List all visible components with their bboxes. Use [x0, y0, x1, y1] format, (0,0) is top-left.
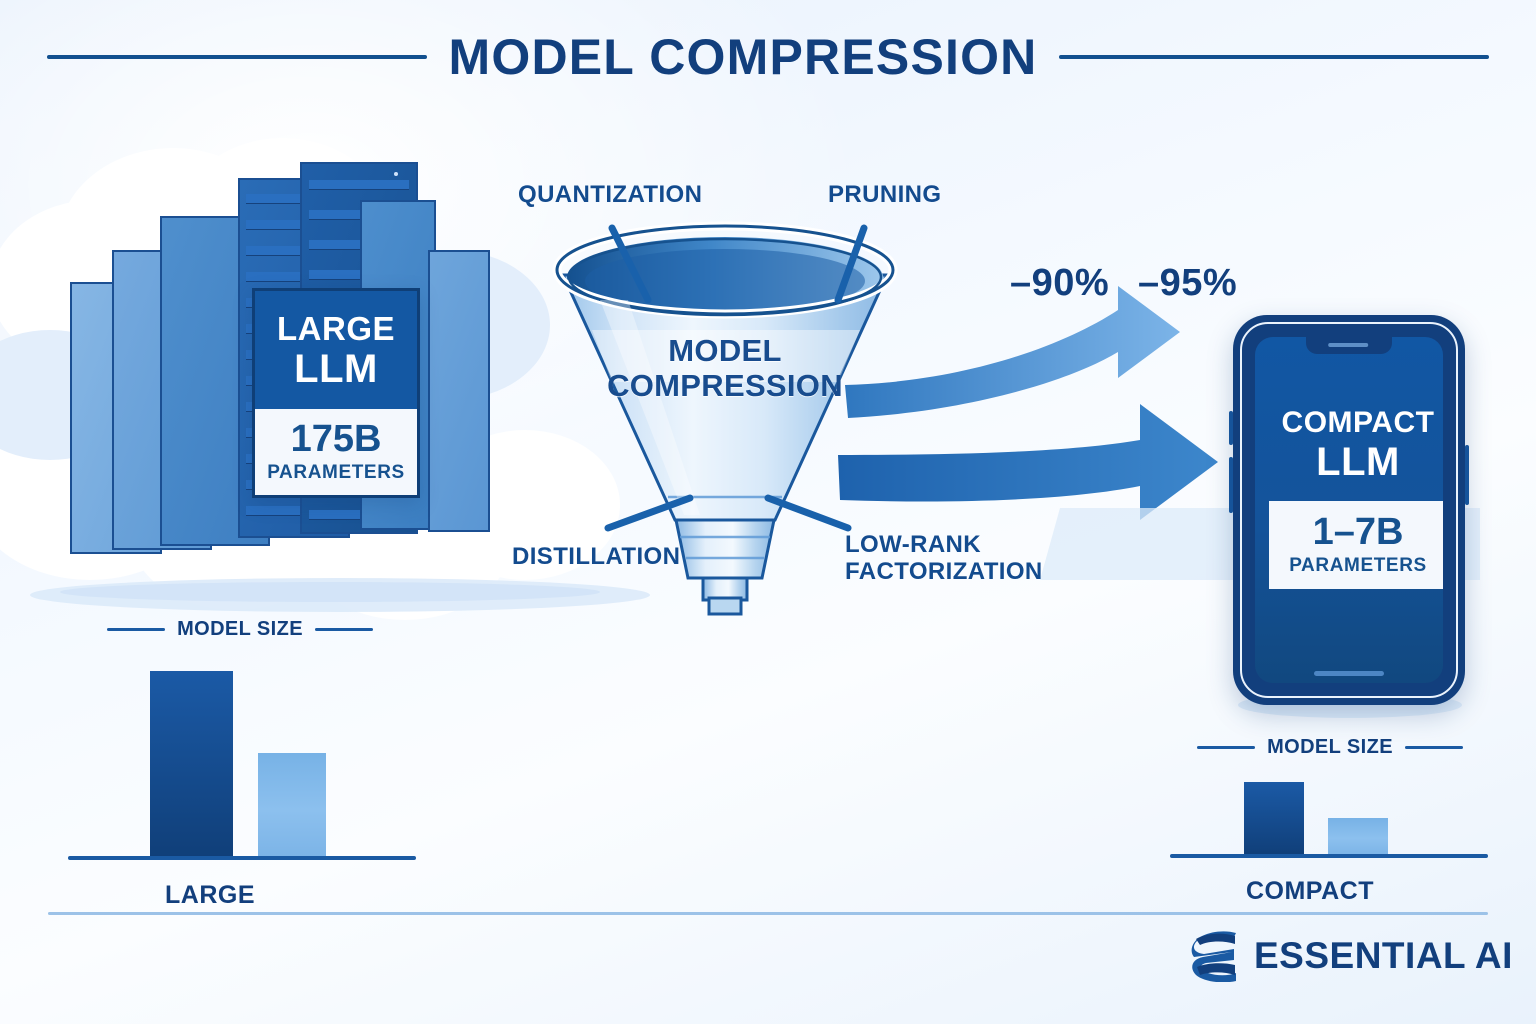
arrow-lower [838, 404, 1218, 520]
large-llm-param-count: 175B [291, 420, 382, 458]
chart-compact-plot [1170, 773, 1490, 855]
essential-ai-e-logo-icon [1190, 930, 1240, 982]
chart-large-axis [68, 856, 416, 860]
chart-model-size-large: MODEL SIZE LARGE [60, 618, 420, 910]
chart-compact-rule-left [1197, 746, 1255, 749]
server-rack [428, 250, 490, 532]
chart-compact-rule-right [1405, 746, 1463, 749]
technique-label-low-rank-line1: LOW-RANK [845, 532, 1043, 559]
chart-large-bar-after [258, 753, 326, 857]
chart-large-plot [60, 657, 420, 857]
compact-llm-title-line2: LLM [1316, 442, 1400, 482]
technique-label-distillation: DISTILLATION [512, 544, 680, 571]
ground-shadow [60, 582, 600, 602]
phone-home-indicator [1314, 671, 1384, 676]
chart-compact-header: MODEL SIZE [1170, 736, 1490, 759]
phone-speaker-icon [1328, 343, 1368, 347]
chart-compact-axis [1170, 854, 1488, 858]
chart-large-title: MODEL SIZE [177, 618, 303, 641]
compact-llm-param-count: 1–7B [1313, 513, 1404, 551]
chart-large-rule-left [107, 628, 165, 631]
large-llm-param-unit: PARAMETERS [267, 462, 405, 484]
page-title: MODEL COMPRESSION [0, 28, 1536, 86]
compact-llm-card: COMPACT LLM 1–7B PARAMETERS [1269, 389, 1443, 589]
brand-name: ESSENTIAL AI [1254, 935, 1513, 977]
leader-line-distillation [608, 498, 690, 528]
infographic-canvas: MODEL COMPRESSION [0, 0, 1536, 1024]
phone-volume-down-button[interactable] [1229, 457, 1233, 513]
page-title-text: MODEL COMPRESSION [449, 28, 1038, 86]
reduction-label-95: –95% [1138, 262, 1237, 305]
technique-label-low-rank-factorization: LOW-RANK FACTORIZATION [845, 532, 1043, 586]
compact-llm-param-unit: PARAMETERS [1289, 555, 1427, 577]
technique-label-quantization: QUANTIZATION [518, 182, 702, 209]
chart-compact-category-label: COMPACT [1170, 877, 1450, 906]
large-llm-title-line2: LLM [294, 349, 378, 389]
chart-model-size-compact: MODEL SIZE COMPACT [1170, 736, 1490, 906]
funnel-body-line2: COMPRESSION [560, 369, 890, 404]
funnel-interior [567, 237, 883, 317]
leader-line-low-rank [768, 498, 848, 528]
chart-large-bar-before [150, 671, 233, 857]
funnel-body-line1: MODEL [560, 334, 890, 369]
large-llm-card-value: 175B PARAMETERS [255, 409, 417, 495]
large-llm-title-line1: LARGE [277, 312, 395, 345]
technique-label-pruning: PRUNING [828, 182, 941, 209]
title-rule-right [1059, 55, 1489, 59]
title-rule-left [47, 55, 427, 59]
funnel-spout-tip [709, 598, 741, 614]
chart-compact-bar-after [1328, 818, 1388, 855]
technique-label-low-rank-line2: FACTORIZATION [845, 559, 1043, 586]
chart-large-header: MODEL SIZE [60, 618, 420, 641]
phone-screen: COMPACT LLM 1–7B PARAMETERS [1255, 337, 1443, 683]
footer-divider [48, 912, 1488, 915]
large-llm-card-header: LARGE LLM [255, 291, 417, 409]
brand-logo: ESSENTIAL AI [1190, 930, 1513, 982]
phone-power-button[interactable] [1465, 445, 1469, 505]
compact-llm-title-line1: COMPACT [1282, 408, 1435, 438]
leader-line-pruning [838, 228, 864, 300]
smartphone: COMPACT LLM 1–7B PARAMETERS [1233, 315, 1465, 705]
chart-large-rule-right [315, 628, 373, 631]
chart-compact-title: MODEL SIZE [1267, 736, 1393, 759]
compact-llm-card-value: 1–7B PARAMETERS [1269, 501, 1443, 589]
large-llm-card: LARGE LLM 175B PARAMETERS [252, 288, 420, 498]
chart-large-category-label: LARGE [60, 881, 360, 910]
phone-volume-up-button[interactable] [1229, 411, 1233, 445]
phone-notch [1306, 337, 1392, 354]
reduction-label-90: –90% [1010, 262, 1109, 305]
funnel-neck [676, 520, 774, 578]
phone-bezel: COMPACT LLM 1–7B PARAMETERS [1240, 322, 1458, 698]
chart-compact-bar-before [1244, 782, 1304, 855]
leader-line-quantization [612, 228, 648, 300]
arrow-upper [845, 286, 1180, 418]
compact-llm-card-header: COMPACT LLM [1269, 389, 1443, 501]
funnel-body-label: MODEL COMPRESSION [560, 334, 890, 403]
funnel-spout [703, 578, 747, 600]
